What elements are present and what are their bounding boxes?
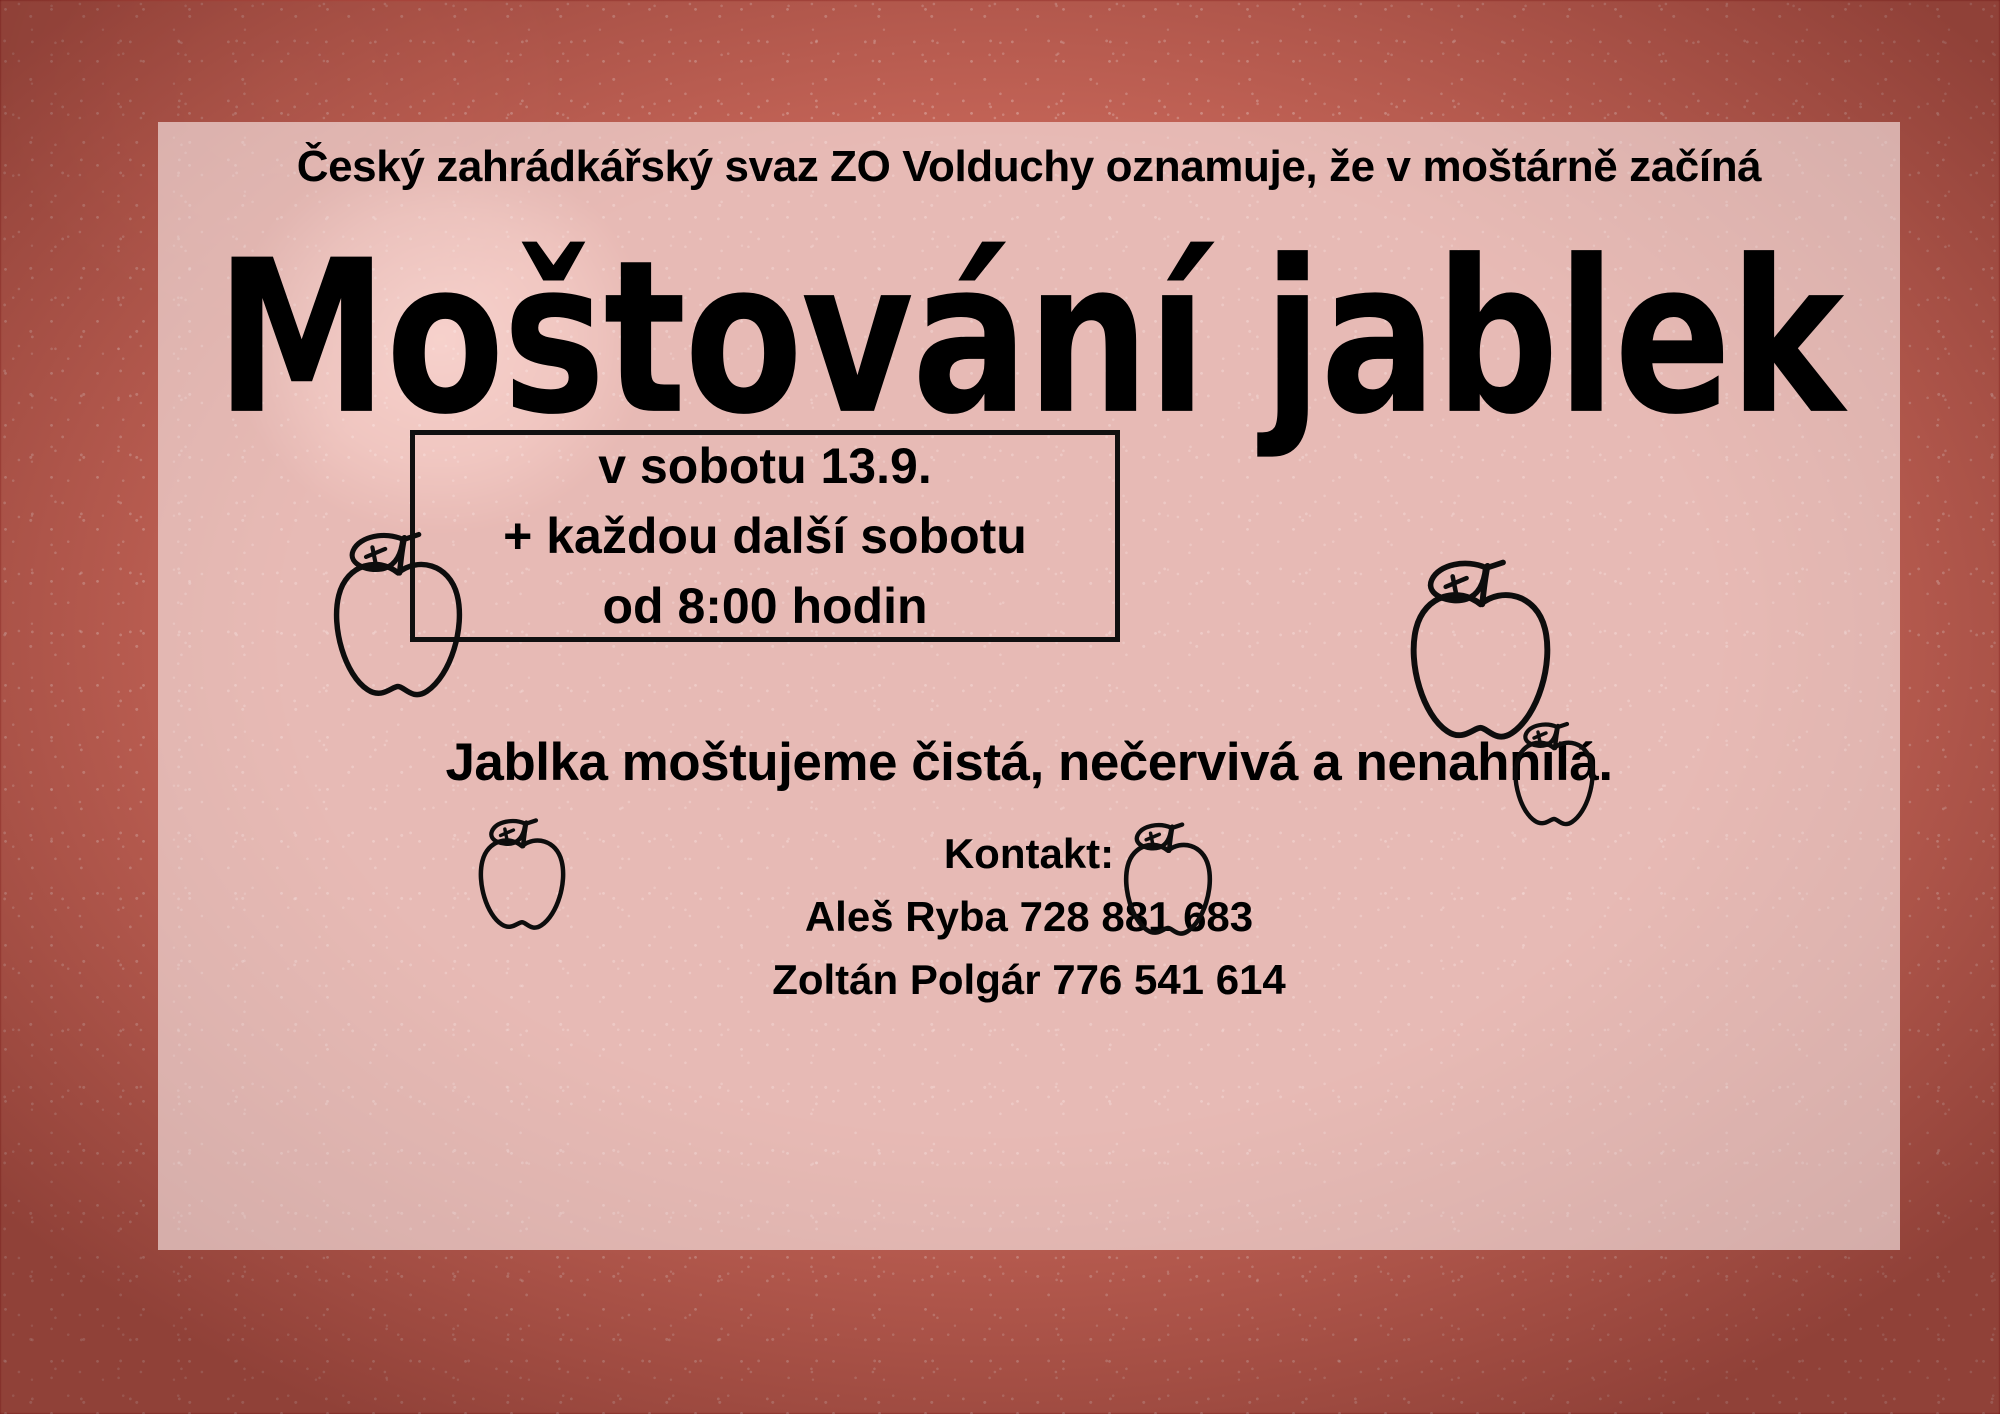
page-title: Moštování jablek [132, 232, 1926, 444]
schedule-line-repeat: + každou další sobotu [503, 503, 1027, 569]
contact-block: Kontakt: Aleš Ryba 728 881 683 Zoltán Po… [158, 822, 1900, 1011]
contact-label: Kontakt: [158, 822, 1900, 885]
contact-person-1: Aleš Ryba 728 881 683 [158, 885, 1900, 948]
schedule-line-time: od 8:00 hodin [603, 573, 928, 639]
poster-content: Český zahrádkářský svaz ZO Volduchy ozna… [158, 122, 1900, 1250]
quality-tagline: Jablka moštujeme čistá, nečervivá a nena… [158, 732, 1900, 793]
schedule-line-date: v sobotu 13.9. [598, 433, 931, 499]
schedule-box: v sobotu 13.9. + každou další sobotu od … [410, 430, 1120, 642]
apple-doodle-icon [1393, 552, 1568, 747]
announcement-headline: Český zahrádkářský svaz ZO Volduchy ozna… [158, 142, 1900, 193]
poster-canvas: Český zahrádkářský svaz ZO Volduchy ozna… [0, 0, 2000, 1414]
contact-person-2: Zoltán Polgár 776 541 614 [158, 948, 1900, 1011]
